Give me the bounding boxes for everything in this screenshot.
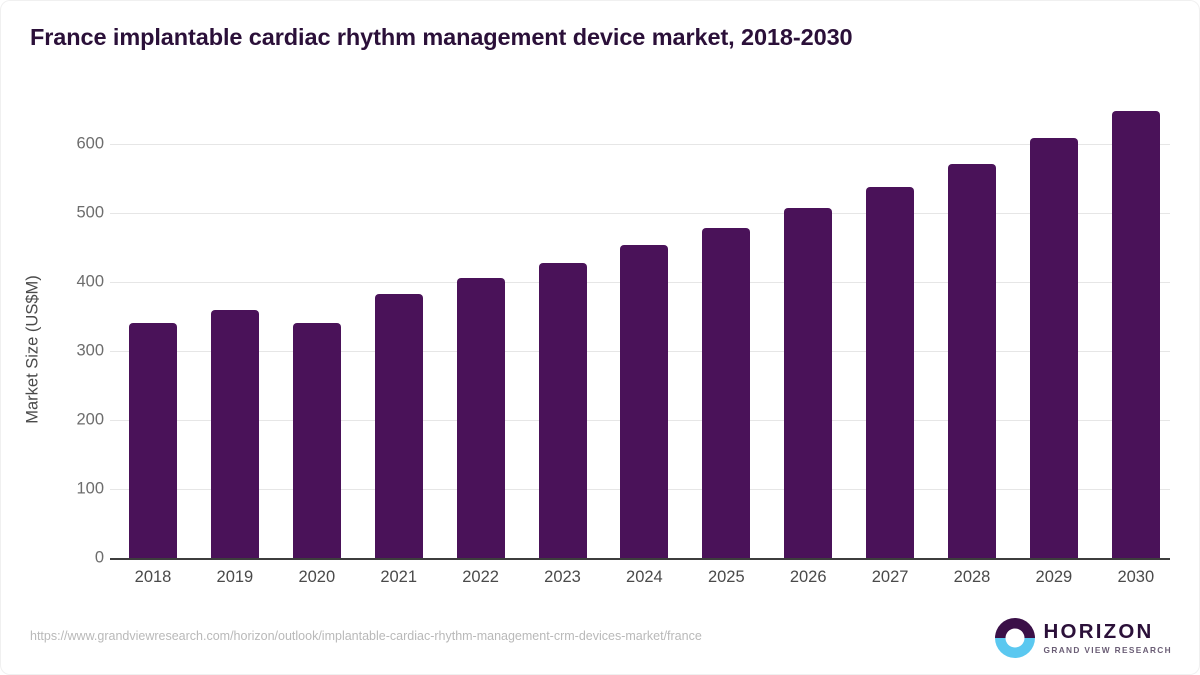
x-axis-tick-label: 2024 [603,568,685,587]
logo-wordmark: HORIZON [1044,622,1172,643]
x-axis-tick-label: 2029 [1013,568,1095,587]
bar[interactable] [866,187,914,558]
bar[interactable] [293,323,341,558]
y-axis-tick-label: 400 [44,273,104,292]
y-axis-tick-label: 0 [44,549,104,568]
x-axis-tick-label: 2030 [1095,568,1177,587]
x-axis-line [110,558,1170,560]
gridline [110,144,1170,145]
x-axis-tick-label: 2022 [440,568,522,587]
x-axis-tick-label: 2021 [358,568,440,587]
bar[interactable] [620,245,668,558]
bar[interactable] [211,310,259,558]
x-axis-tick-label: 2026 [767,568,849,587]
horizon-logo-icon [995,618,1035,658]
horizon-logo: HORIZON GRAND VIEW RESEARCH [995,618,1172,658]
x-axis-tick-label: 2025 [685,568,767,587]
bar[interactable] [1112,111,1160,558]
y-axis-tick-label: 100 [44,480,104,499]
gridline [110,213,1170,214]
y-axis-tick-label: 200 [44,411,104,430]
logo-tagline: GRAND VIEW RESEARCH [1044,646,1172,654]
bar[interactable] [375,294,423,558]
y-axis-tick-label: 300 [44,342,104,361]
y-axis-title: Market Size (US$M) [24,150,43,550]
x-axis-tick-label: 2018 [112,568,194,587]
x-axis-tick-label: 2023 [522,568,604,587]
y-axis-tick-label: 500 [44,204,104,223]
source-url-text: https://www.grandviewresearch.com/horizo… [30,629,702,643]
bar[interactable] [948,164,996,558]
bar[interactable] [784,208,832,558]
x-axis-tick-label: 2020 [276,568,358,587]
logo-text-block: HORIZON GRAND VIEW RESEARCH [1044,622,1172,654]
bar-chart-plot: 0100200300400500600 20182019202020212022… [0,0,1200,675]
bar[interactable] [702,228,750,558]
x-axis-tick-label: 2027 [849,568,931,587]
bar[interactable] [1030,138,1078,558]
x-axis-tick-label: 2019 [194,568,276,587]
bar[interactable] [457,278,505,558]
bar[interactable] [129,323,177,558]
chart-page: France implantable cardiac rhythm manage… [0,0,1200,675]
bar[interactable] [539,263,587,558]
y-axis-tick-label: 600 [44,135,104,154]
x-axis-tick-label: 2028 [931,568,1013,587]
